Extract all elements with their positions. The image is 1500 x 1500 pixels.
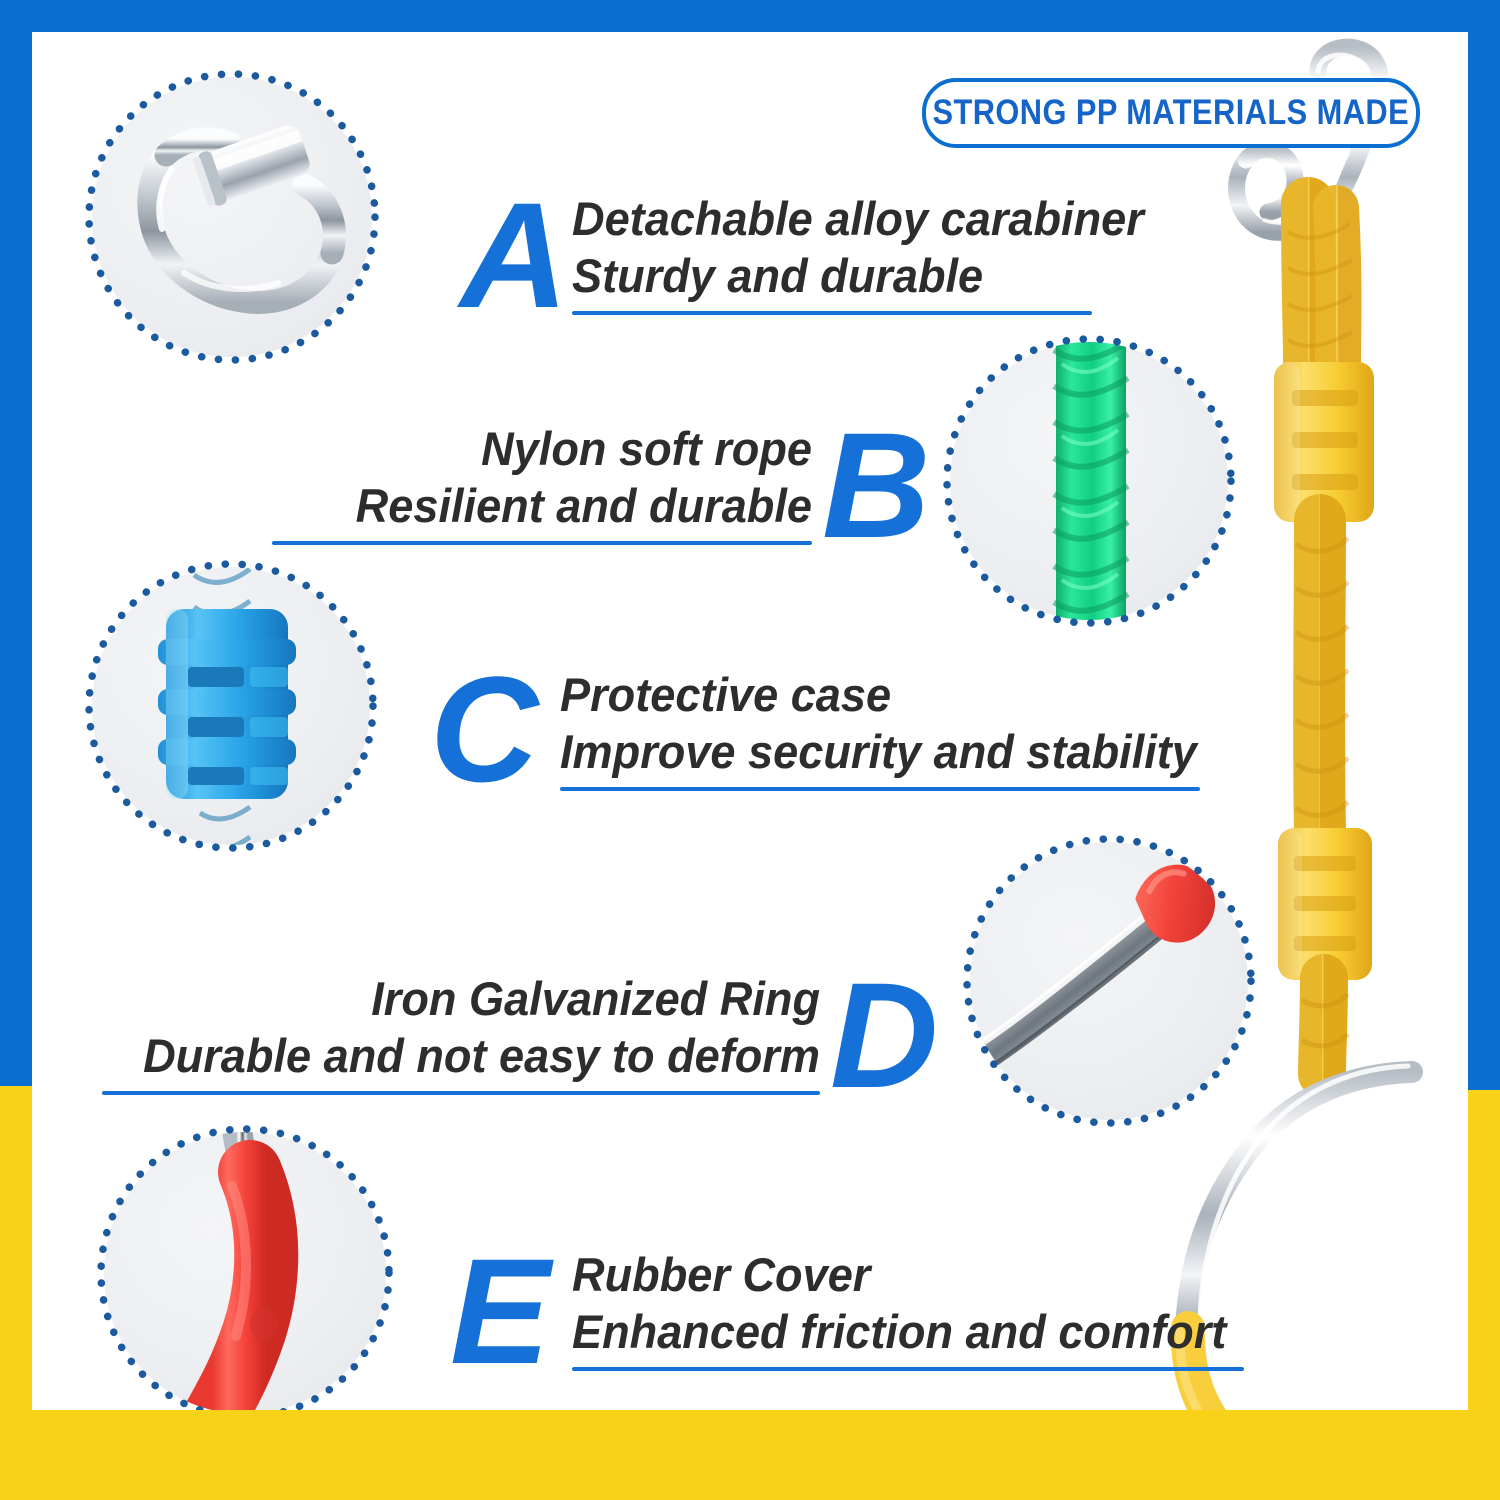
feature-a-line1: Detachable alloy carabiner — [572, 190, 1144, 247]
infographic-frame: STRONG PP MATERIALS MADE — [0, 0, 1500, 1500]
border-bottom-yellow — [0, 1410, 1500, 1500]
feature-a-line2: Sturdy and durable — [572, 247, 1144, 304]
feature-d-underline — [102, 1091, 820, 1095]
feature-c-underline — [560, 787, 1200, 791]
border-left-blue — [0, 0, 32, 1086]
content-panel: STRONG PP MATERIALS MADE — [32, 32, 1468, 1410]
feature-b-caption: Nylon soft rope Resilient and durable — [212, 420, 812, 545]
feature-c-letter: C — [430, 654, 538, 804]
feature-d-caption: Iron Galvanized Ring Durable and not eas… — [52, 970, 820, 1095]
yellow-protective-case — [1278, 828, 1372, 980]
feature-d-line2: Durable and not easy to deform — [83, 1027, 820, 1084]
header-badge-label: STRONG PP MATERIALS MADE — [933, 93, 1410, 133]
yellow-rope — [1302, 978, 1348, 1074]
feature-a-underline — [572, 311, 1092, 315]
feature-e-line2: Enhanced friction and comfort — [572, 1303, 1226, 1360]
feature-c-caption: Protective case Improve security and sta… — [560, 666, 1223, 791]
feature-e-letter: E — [450, 1236, 550, 1386]
feature-b-line2: Resilient and durable — [236, 477, 812, 534]
yellow-rope — [1288, 204, 1352, 362]
feature-a-letter: A — [460, 180, 568, 330]
yellow-rope — [1296, 520, 1348, 832]
feature-e-image-red-rubber-cover-photo — [104, 1132, 386, 1410]
feature-c-image-blue-protective-case-photo — [92, 567, 370, 845]
feature-d-line1: Iron Galvanized Ring — [83, 970, 820, 1027]
feature-e-underline — [572, 1367, 1244, 1371]
border-right-blue — [1468, 0, 1500, 1090]
yellow-protective-case — [1274, 362, 1374, 522]
feature-d-letter: D — [830, 960, 938, 1110]
feature-c-line1: Protective case — [560, 666, 1197, 723]
feature-d-image-galvanized-ring-photo — [970, 842, 1248, 1120]
feature-e-caption: Rubber Cover Enhanced friction and comfo… — [572, 1246, 1254, 1371]
feature-b-underline — [272, 541, 812, 545]
header-badge: STRONG PP MATERIALS MADE — [922, 78, 1420, 148]
feature-b-letter: B — [822, 410, 930, 560]
feature-c-line2: Improve security and stability — [560, 723, 1197, 780]
feature-a-image-carabiner-photo — [92, 77, 372, 357]
feature-b-line1: Nylon soft rope — [236, 420, 812, 477]
feature-e-line1: Rubber Cover — [572, 1246, 1226, 1303]
feature-a-caption: Detachable alloy carabiner Sturdy and du… — [572, 190, 1168, 315]
feature-b-image-green-rope-photo — [950, 342, 1228, 620]
border-top-blue — [0, 0, 1500, 32]
